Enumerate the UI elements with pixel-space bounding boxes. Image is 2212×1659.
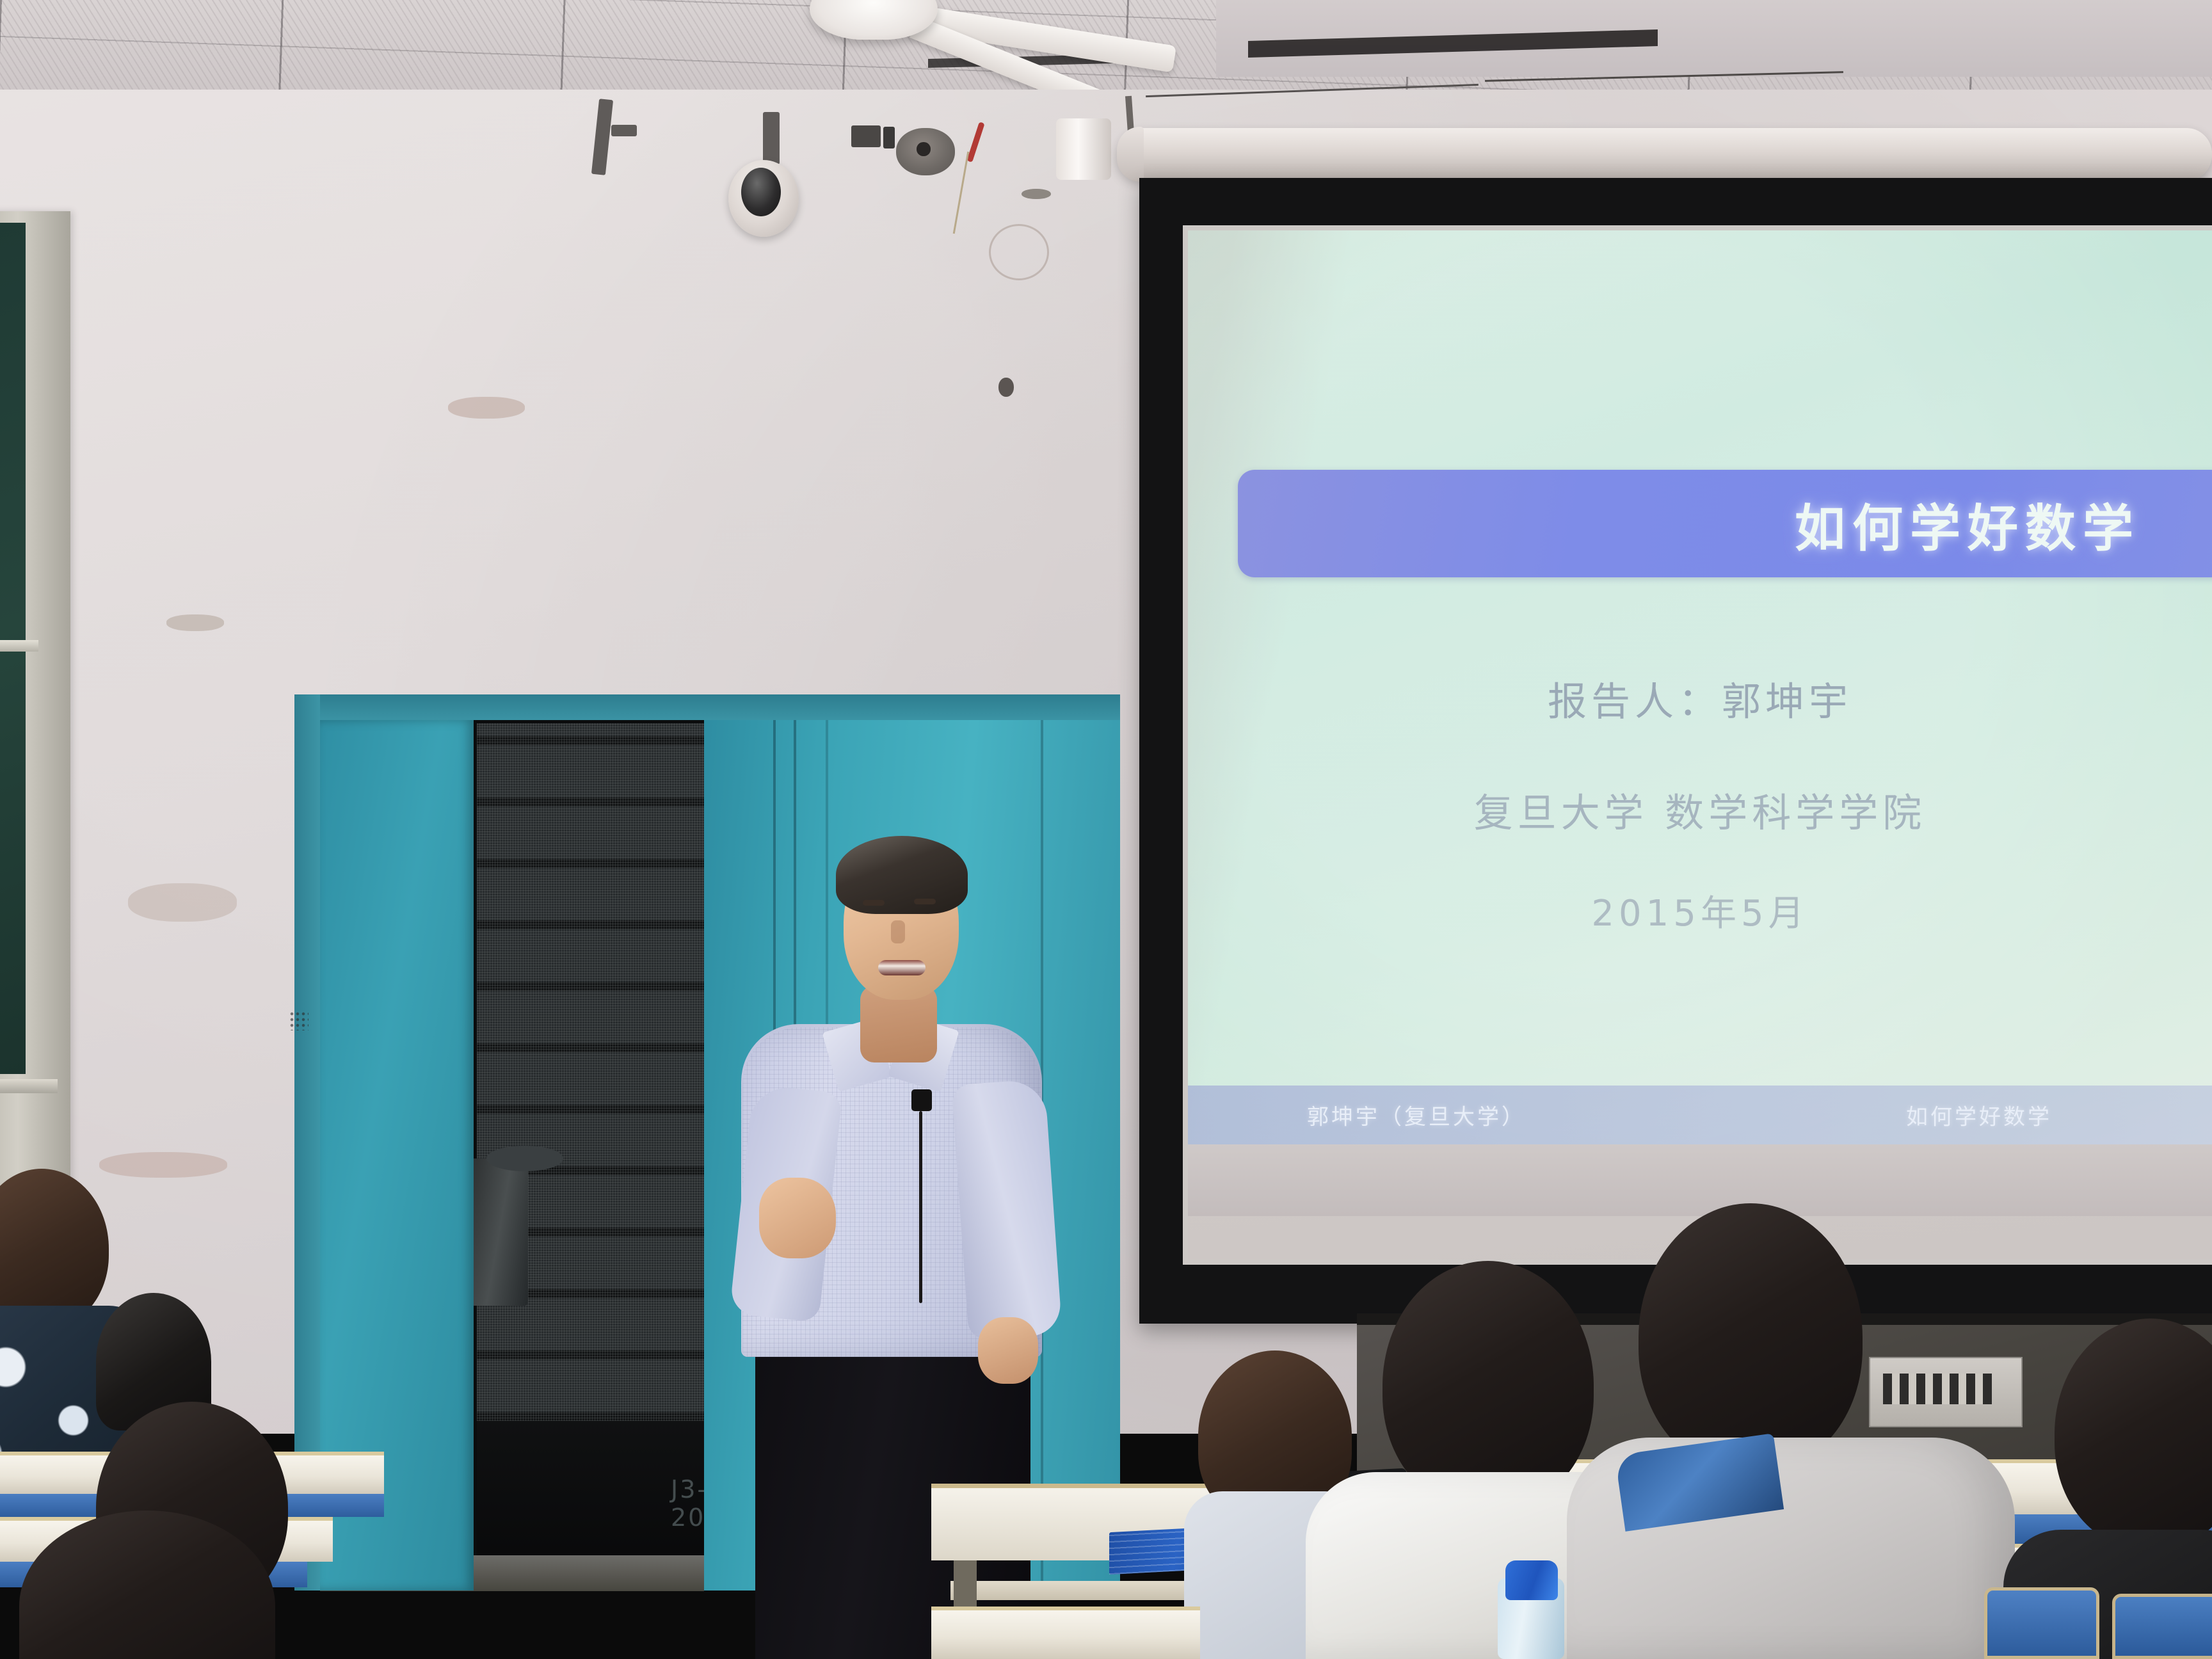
speaker-right-hand — [978, 1317, 1038, 1384]
grille-mesh-texture — [477, 723, 704, 1421]
slide-footer-band: 郭坤宇（复旦大学） 如何学好数学 — [1188, 1086, 2212, 1144]
slide-footer-left: 郭坤宇（复旦大学） — [1307, 1100, 1526, 1131]
wall-scuff — [128, 883, 237, 922]
speaker-hair — [836, 836, 968, 914]
wall-mount-bracket — [851, 125, 881, 147]
slide-title: 如何学好数学 — [1238, 470, 2212, 577]
slide-affiliation-line: 复旦大学 数学科学学院 — [1188, 781, 2212, 838]
speaker-left-hand — [759, 1178, 836, 1258]
speaker-eye-right — [914, 899, 936, 904]
slide-footer-right: 如何学好数学 — [1906, 1100, 2052, 1131]
speaker-mouth — [878, 960, 926, 975]
screen-unlit-area — [1188, 1144, 2212, 1216]
chalk-rail — [0, 1079, 58, 1093]
lapel-microphone-icon — [911, 1089, 932, 1111]
door-frame-top — [294, 694, 1120, 720]
door-vent-dots — [289, 1011, 309, 1030]
audience-head — [1639, 1203, 1863, 1472]
speaker-right-sleeve — [951, 1078, 1062, 1340]
desk-row — [931, 1607, 1200, 1659]
wall-mount-bracket — [763, 112, 780, 164]
slide-presenter-line: 报告人：郭坤宇 — [1188, 669, 2212, 726]
speaker-eye-left — [863, 900, 885, 906]
lecture-hall-photo: 如何学好数学 报告人：郭坤宇 复旦大学 数学科学学院 2015年5月 郭坤宇（复… — [0, 0, 2212, 1659]
stool-seat — [486, 1146, 563, 1171]
wall-damage-patch — [1022, 189, 1051, 199]
wall-pipe — [1056, 118, 1111, 180]
wall-scuff — [448, 397, 525, 419]
wall-scuff — [99, 1152, 227, 1178]
wall-mount-bracket — [883, 127, 895, 148]
wall-mount-bracket — [611, 125, 637, 136]
presentation-slide: 如何学好数学 报告人：郭坤宇 复旦大学 数学科学学院 2015年5月 郭坤宇（复… — [1188, 230, 2212, 1216]
wall-circle-mark — [989, 224, 1049, 280]
speaker-nose — [891, 920, 905, 943]
microphone-cable — [919, 1111, 922, 1303]
projection-screen-roller — [1117, 128, 2212, 180]
trash-can — [470, 1158, 528, 1306]
slide-date-line: 2015年5月 — [1188, 885, 2212, 936]
wall-hole — [917, 142, 931, 156]
chair-back — [1984, 1587, 2099, 1659]
projection-screen-surface: 如何学好数学 报告人：郭坤宇 复旦大学 数学科学学院 2015年5月 郭坤宇（复… — [1188, 230, 2212, 1260]
dome-speaker-lens — [741, 168, 781, 216]
chalk-rail — [0, 640, 38, 652]
wall-scuff — [166, 614, 224, 631]
wall-damage-patch — [998, 378, 1014, 397]
interior-grille — [477, 723, 704, 1421]
water-bottle-cap — [1505, 1560, 1558, 1600]
slide-title-banner: 如何学好数学 — [1238, 470, 2212, 577]
chair-back — [2112, 1594, 2212, 1659]
wall-switch-row[interactable] — [1883, 1374, 1992, 1404]
